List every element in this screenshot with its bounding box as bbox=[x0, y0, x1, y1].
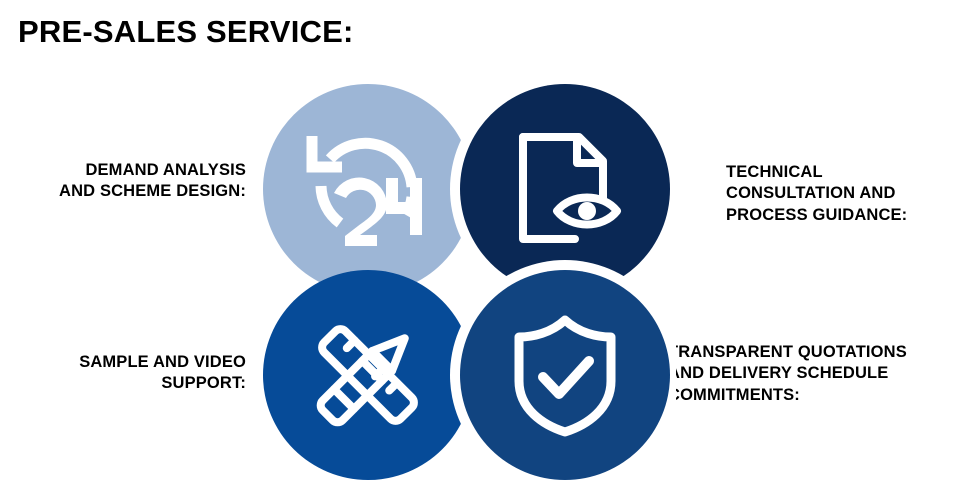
label-technical-consultation: TECHNICAL CONSULTATION AND PROCESS GUIDA… bbox=[726, 162, 952, 226]
label-demand-analysis: DEMAND ANALYSIS AND SCHEME DESIGN: bbox=[16, 160, 246, 203]
label-sample-video-support: SAMPLE AND VIDEO SUPPORT: bbox=[16, 352, 246, 395]
pre-sales-service-infographic: PRE-SALES SERVICE: DEMAND ANALYSIS AND S… bbox=[0, 0, 960, 498]
page-title: PRE-SALES SERVICE: bbox=[18, 14, 354, 50]
circle-cluster bbox=[260, 78, 676, 488]
circle-transparent-quotations[interactable] bbox=[450, 260, 676, 488]
label-transparent-quotations: TRANSPARENT QUOTATIONS AND DELIVERY SCHE… bbox=[668, 342, 960, 406]
